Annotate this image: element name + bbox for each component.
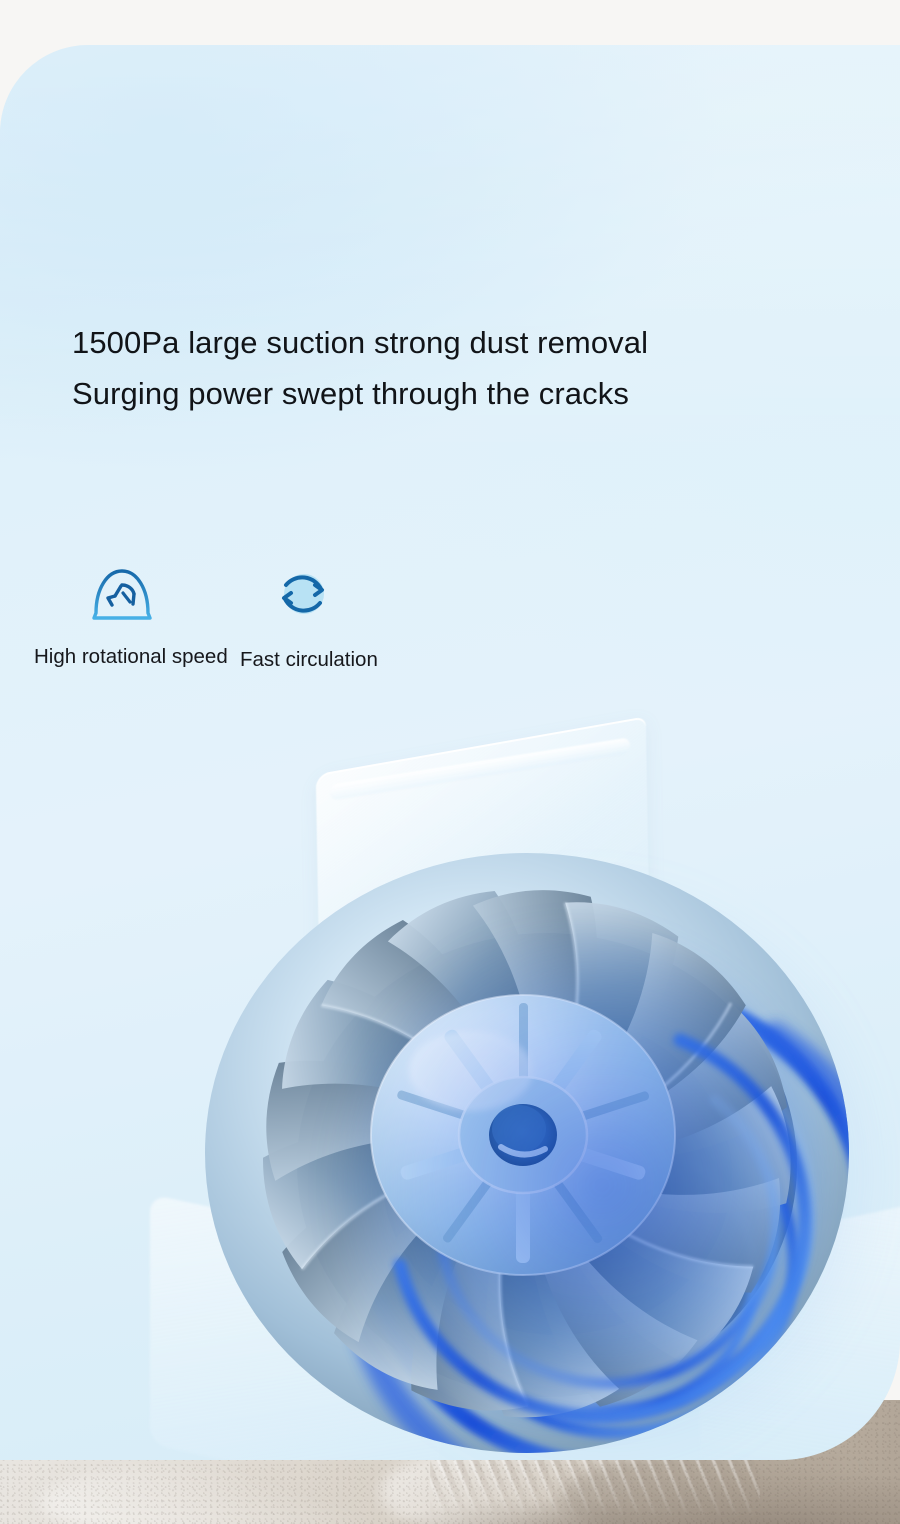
feature-label: Fast circulation (240, 644, 460, 675)
feature-fast-circulation: Fast circulation (240, 563, 460, 675)
headline-line-1: 1500Pa large suction strong dust removal (72, 325, 648, 360)
turbine-impeller-icon (175, 835, 895, 1460)
product-illustration (0, 45, 900, 1460)
feature-high-rotational-speed: High rotational speed (34, 563, 234, 672)
promo-banner: 1500Pa large suction strong dust removal… (0, 0, 900, 1524)
headline-line-2: Surging power swept through the cracks (72, 368, 832, 419)
circulation-arrows-icon (240, 563, 460, 627)
turbine-dome-icon (34, 563, 234, 627)
feature-label: High rotational speed (34, 641, 234, 672)
page-title: 1500Pa large suction strong dust removal… (72, 317, 832, 419)
feature-card: 1500Pa large suction strong dust removal… (0, 45, 900, 1460)
